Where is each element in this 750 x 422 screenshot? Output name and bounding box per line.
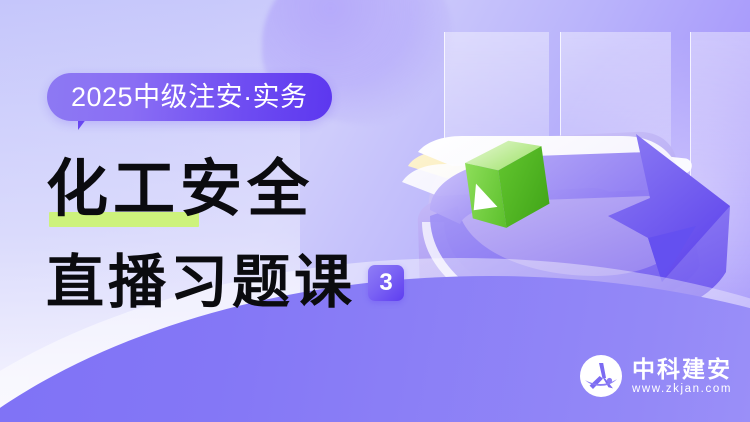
brand-url-text: www.zkjan.com [632,382,732,397]
headline-secondary: 直播习题课 3 [46,248,404,318]
course-category-badge: 2025中级注安·实务 [47,73,332,121]
headline-primary: 化工安全 [46,152,446,232]
headline-secondary-text: 直播习题课 [46,248,356,318]
headline-primary-text: 化工安全 [46,152,314,228]
episode-number-badge: 3 [368,265,404,301]
course-category-label: 2025中级注安·实务 [71,84,308,111]
brand-logo: 中科建安 www.zkjan.com [579,354,732,398]
course-cover-poster: 2025中级注安·实务 化工安全 直播习题课 3 中科建安 www.zkjan.… [0,0,750,422]
brand-mark-icon [579,354,623,398]
brand-name-text: 中科建安 [632,356,732,382]
poster-text-content: 2025中级注安·实务 化工安全 直播习题课 3 [0,0,470,422]
